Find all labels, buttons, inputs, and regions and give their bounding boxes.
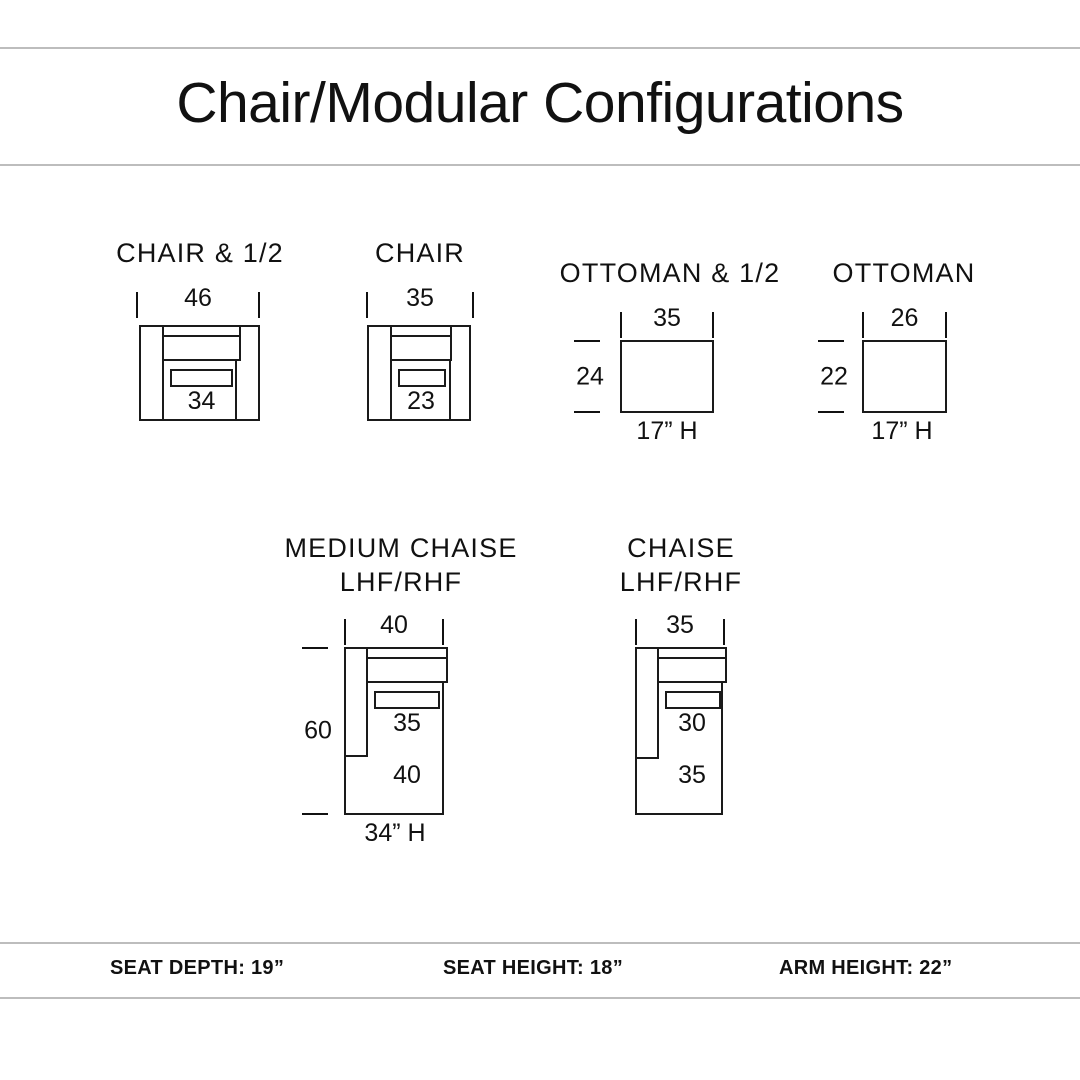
width-tick-right-icon bbox=[945, 312, 947, 338]
height-tick-top-icon bbox=[302, 647, 328, 649]
width-tick-left-icon bbox=[136, 292, 138, 318]
diagram-chaise: CHAISE LHF/RHF 35 30 35 bbox=[600, 531, 800, 851]
footer-arm-height: ARM HEIGHT: 22” bbox=[779, 957, 952, 980]
medium-chaise-width-value: 40 bbox=[344, 611, 444, 640]
chair-right-arm bbox=[449, 325, 471, 421]
ottoman-and-half-height-dimension: 24 bbox=[570, 340, 616, 413]
chair-and-half-label: CHAIR & 1/2 bbox=[116, 236, 284, 270]
chaise-left-arm bbox=[635, 647, 659, 759]
diagram-medium-chaise: MEDIUM CHAISE LHF/RHF 40 60 35 40 34” H bbox=[280, 531, 520, 851]
height-tick-top-icon bbox=[574, 340, 600, 342]
chair-width-dimension: 35 bbox=[366, 284, 474, 320]
chaise-label: CHAISE LHF/RHF bbox=[620, 531, 742, 599]
width-tick-right-icon bbox=[723, 619, 725, 645]
medium-chaise-height-dimension: 60 bbox=[298, 647, 344, 815]
ottoman-label: OTTOMAN bbox=[833, 256, 976, 290]
ottoman-width-value: 26 bbox=[862, 304, 947, 333]
ottoman-and-half-height-value: 24 bbox=[570, 362, 610, 391]
chair-and-half-width-dimension: 46 bbox=[136, 284, 260, 320]
ottoman-body bbox=[862, 340, 947, 413]
medium-chaise-height-value: 60 bbox=[298, 717, 338, 746]
medium-chaise-left-arm bbox=[344, 647, 368, 757]
chair-and-half-left-arm bbox=[139, 325, 164, 421]
ottoman-height-note: 17” H bbox=[871, 417, 932, 446]
diagram-ottoman-and-half: OTTOMAN & 1/2 35 24 17” H bbox=[556, 256, 786, 446]
medium-chaise-height-note: 34” H bbox=[364, 819, 425, 848]
footer-divider-bottom bbox=[0, 997, 1080, 999]
width-tick-right-icon bbox=[472, 292, 474, 318]
width-tick-right-icon bbox=[442, 619, 444, 645]
ottoman-and-half-width-dimension: 35 bbox=[620, 304, 714, 340]
chair-seat-cushion bbox=[398, 369, 446, 387]
chair-and-half-body: 34 bbox=[139, 325, 260, 421]
height-tick-bottom-icon bbox=[302, 813, 328, 815]
chair-left-arm bbox=[367, 325, 392, 421]
chaise-label-line1: CHAISE bbox=[620, 531, 742, 565]
chair-width-value: 35 bbox=[366, 284, 474, 313]
medium-chaise-depth-value: 40 bbox=[366, 761, 448, 790]
chaise-label-line2: LHF/RHF bbox=[620, 565, 742, 599]
height-tick-bottom-icon bbox=[574, 411, 600, 413]
height-tick-top-icon bbox=[818, 340, 844, 342]
footer-divider-top bbox=[0, 942, 1080, 944]
chair-seat-value: 23 bbox=[390, 387, 452, 416]
width-tick-left-icon bbox=[862, 312, 864, 338]
medium-chaise-seat-cushion bbox=[374, 691, 440, 709]
diagram-chair: CHAIR 35 23 bbox=[340, 236, 500, 426]
chaise-depth-value: 35 bbox=[657, 761, 727, 790]
ottoman-and-half-width-value: 35 bbox=[620, 304, 714, 333]
chaise-seat-value: 30 bbox=[657, 709, 727, 738]
ottoman-and-half-label: OTTOMAN & 1/2 bbox=[560, 256, 781, 290]
footer-seat-height: SEAT HEIGHT: 18” bbox=[443, 957, 623, 980]
medium-chaise-label-line2: LHF/RHF bbox=[284, 565, 517, 599]
header-divider-bottom bbox=[0, 164, 1080, 166]
chaise-back-rail-lower bbox=[657, 657, 727, 683]
width-tick-right-icon bbox=[258, 292, 260, 318]
footer-seat-depth: SEAT DEPTH: 19” bbox=[110, 957, 284, 980]
width-tick-right-icon bbox=[712, 312, 714, 338]
chair-and-half-seat-cushion bbox=[170, 369, 233, 387]
ottoman-height-value: 22 bbox=[814, 362, 854, 391]
medium-chaise-back-rail-lower bbox=[366, 657, 448, 683]
width-tick-left-icon bbox=[635, 619, 637, 645]
ottoman-width-dimension: 26 bbox=[862, 304, 947, 340]
chair-back-rail-lower bbox=[390, 335, 452, 361]
chaise-width-value: 35 bbox=[635, 611, 725, 640]
header-divider-top bbox=[0, 47, 1080, 49]
ottoman-height-dimension: 22 bbox=[814, 340, 860, 413]
diagram-ottoman: OTTOMAN 26 22 17” H bbox=[812, 256, 1002, 446]
medium-chaise-seat-value: 35 bbox=[366, 709, 448, 738]
width-tick-left-icon bbox=[366, 292, 368, 318]
medium-chaise-label-line1: MEDIUM CHAISE bbox=[284, 531, 517, 565]
height-tick-bottom-icon bbox=[818, 411, 844, 413]
diagram-chair-and-half: CHAIR & 1/2 46 34 bbox=[110, 236, 290, 426]
chaise-body: 30 35 bbox=[635, 647, 723, 815]
ottoman-and-half-body bbox=[620, 340, 714, 413]
ottoman-and-half-height-note: 17” H bbox=[636, 417, 697, 446]
chair-and-half-width-value: 46 bbox=[136, 284, 260, 313]
page-title: Chair/Modular Configurations bbox=[0, 70, 1080, 136]
chaise-seat-cushion bbox=[665, 691, 721, 709]
medium-chaise-body: 35 40 bbox=[344, 647, 444, 815]
chair-body: 23 bbox=[367, 325, 471, 421]
chaise-width-dimension: 35 bbox=[635, 611, 725, 647]
width-tick-left-icon bbox=[620, 312, 622, 338]
medium-chaise-label: MEDIUM CHAISE LHF/RHF bbox=[284, 531, 517, 599]
chair-and-half-back-rail-lower bbox=[162, 335, 241, 361]
width-tick-left-icon bbox=[344, 619, 346, 645]
chair-label: CHAIR bbox=[375, 236, 465, 270]
chair-and-half-seat-value: 34 bbox=[162, 387, 241, 416]
medium-chaise-width-dimension: 40 bbox=[344, 611, 444, 647]
